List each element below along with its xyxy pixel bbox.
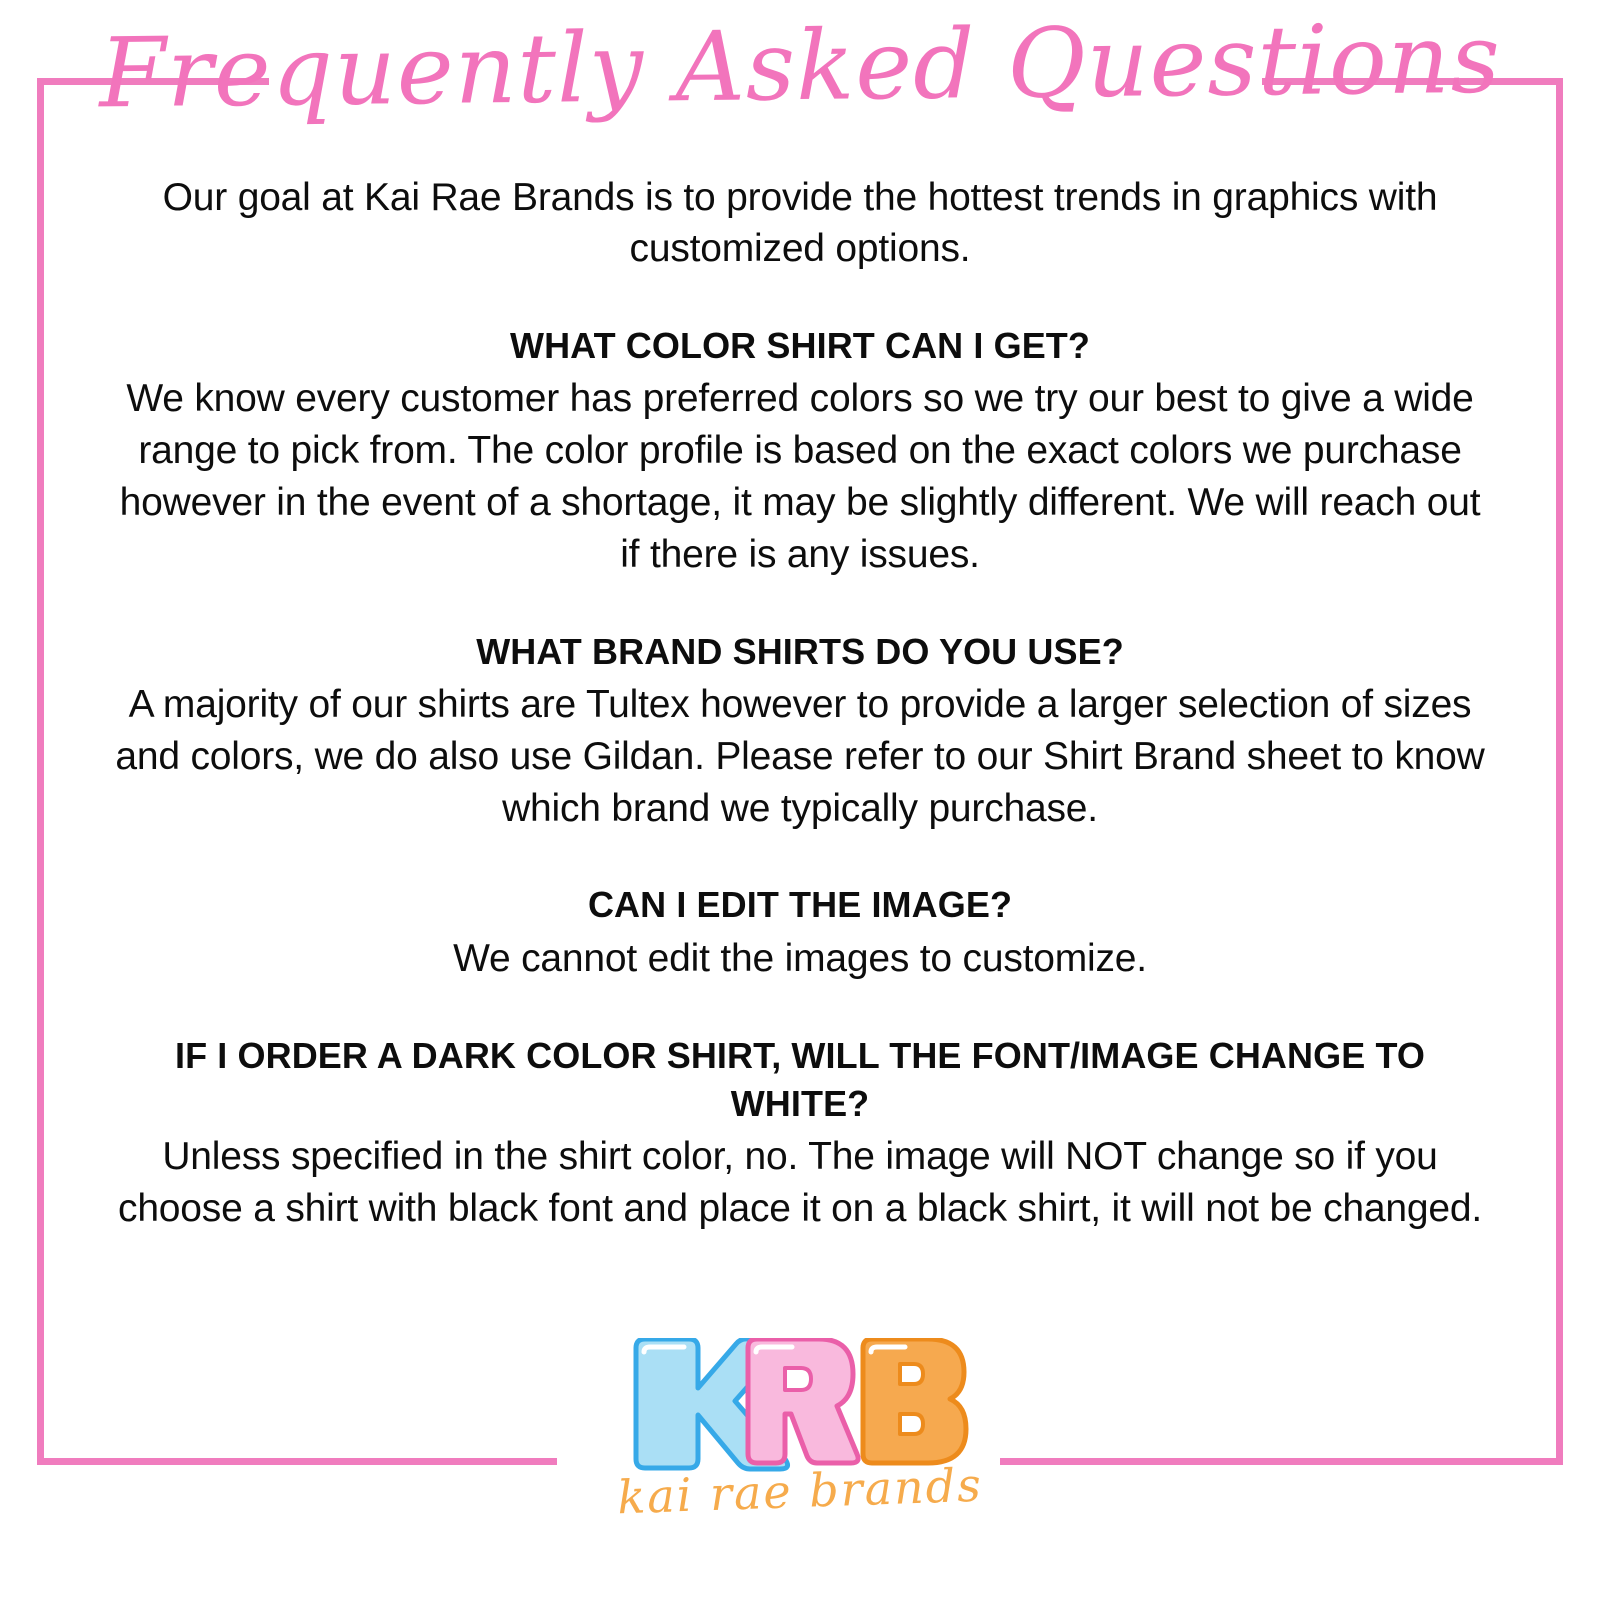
faq-answer: We know every customer has preferred col… [110, 373, 1490, 580]
faq-item-1: WHAT COLOR SHIRT CAN I GET? We know ever… [110, 322, 1490, 581]
faq-question: WHAT COLOR SHIRT CAN I GET? [110, 322, 1490, 370]
faq-content: Our goal at Kai Rae Brands is to provide… [110, 172, 1490, 1235]
logo-letter-b-icon [863, 1339, 966, 1463]
faq-item-4: IF I ORDER A DARK COLOR SHIRT, WILL THE … [110, 1032, 1490, 1235]
faq-question: WHAT BRAND SHIRTS DO YOU USE? [110, 628, 1490, 676]
faq-answer: A majority of our shirts are Tultex howe… [110, 679, 1490, 835]
frame-left-segment [37, 78, 44, 1465]
logo-letter-r-icon [748, 1339, 858, 1463]
faq-item-3: CAN I EDIT THE IMAGE? We cannot edit the… [110, 881, 1490, 984]
brand-logo: kai rae brands [590, 1338, 1010, 1518]
faq-question: IF I ORDER A DARK COLOR SHIRT, WILL THE … [110, 1032, 1490, 1128]
faq-answer: We cannot edit the images to customize. [110, 933, 1490, 985]
page-title: Frequently Asked Questions [0, 8, 1600, 126]
krb-monogram-icon [630, 1338, 970, 1480]
faq-graphic: Frequently Asked Questions Our goal at K… [0, 0, 1600, 1600]
faq-question: CAN I EDIT THE IMAGE? [110, 881, 1490, 929]
faq-item-2: WHAT BRAND SHIRTS DO YOU USE? A majority… [110, 628, 1490, 835]
intro-paragraph: Our goal at Kai Rae Brands is to provide… [110, 172, 1490, 275]
frame-right-segment [1556, 78, 1563, 1465]
faq-answer: Unless specified in the shirt color, no.… [110, 1131, 1490, 1235]
frame-bottom-right-segment [1000, 1458, 1563, 1465]
frame-bottom-left-segment [37, 1458, 557, 1465]
